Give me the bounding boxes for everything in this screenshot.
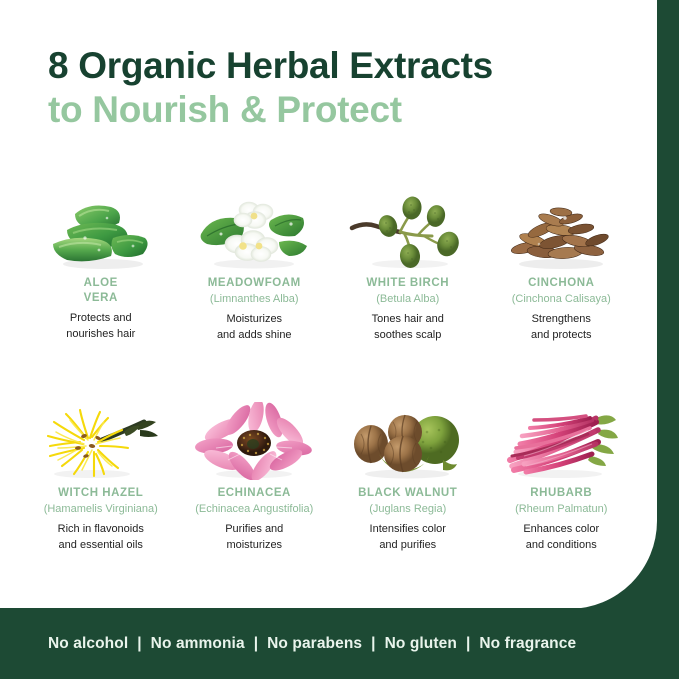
black-walnut-nuts-icon: [338, 396, 478, 480]
ingredient-latin-name: (Betula Alba): [376, 292, 439, 307]
infographic-page: 8 Organic Herbal Extracts to Nourish & P…: [0, 0, 679, 679]
desc-line1: Moisturizes: [226, 313, 282, 325]
ingredient-description: Tones hair and soothes scalp: [372, 312, 444, 344]
ingredient-name: CINCHONA: [528, 276, 594, 291]
claims-list: No alcohol | No ammonia | No parabens | …: [48, 635, 576, 653]
rhubarb-pink-stalks-icon: [491, 396, 631, 480]
desc-line2: and essential oils: [59, 539, 143, 551]
ingredient-name: BLACK WALNUT: [358, 486, 457, 501]
desc-line1: Purifies and: [225, 523, 283, 535]
desc-line2: and adds shine: [217, 329, 292, 341]
page-title-line2: to Nourish & Protect: [48, 88, 628, 132]
echinacea-pink-flower-icon: [184, 396, 324, 480]
desc-line1: Protects and: [70, 312, 132, 324]
ingredient-name-line1: ALOE: [84, 277, 118, 289]
ingredient-card-echinacea: ECHINACEA (Echinacea Angustifolia) Purif…: [178, 396, 332, 554]
ingredient-card-cinchona: CINCHONA (Cinchona Calisaya) Strengthens…: [485, 186, 639, 344]
ingredient-card-aloe-vera: ALOE VERA Protects and nourishes hair: [24, 186, 178, 344]
ingredient-name: MEADOWFOAM: [208, 276, 301, 291]
claim-separator: |: [254, 635, 258, 653]
ingredient-latin-name: (Hamamelis Virginiana): [44, 502, 158, 517]
claim-separator: |: [466, 635, 470, 653]
claim-separator: |: [137, 635, 141, 653]
ingredient-name: RHUBARB: [530, 486, 592, 501]
claim-no-parabens: No parabens: [267, 635, 362, 653]
ingredient-description: Rich in flavonoids and essential oils: [58, 522, 144, 554]
ingredient-latin-name: (Rheum Palmatun): [515, 502, 607, 517]
ingredient-latin-name: (Echinacea Angustifolia): [195, 502, 313, 517]
claim-no-gluten: No gluten: [385, 635, 457, 653]
desc-line1: Tones hair and: [372, 313, 444, 325]
desc-line2: nourishes hair: [66, 328, 135, 340]
ingredient-name: WITCH HAZEL: [58, 486, 143, 501]
claim-no-ammonia: No ammonia: [151, 635, 245, 653]
desc-line1: Intensifies color: [370, 523, 446, 535]
claims-banner: No alcohol | No ammonia | No parabens | …: [0, 608, 679, 679]
ingredient-name: ECHINACEA: [218, 486, 291, 501]
ingredient-description: Strengthens and protects: [531, 312, 592, 344]
ingredient-description: Moisturizes and adds shine: [217, 312, 292, 344]
desc-line1: Enhances color: [523, 523, 599, 535]
desc-line2: moisturizes: [226, 539, 282, 551]
ingredient-card-black-walnut: BLACK WALNUT (Juglans Regia) Intensifies…: [331, 396, 485, 554]
meadowfoam-white-flower-icon: [184, 186, 324, 270]
ingredient-latin-name: (Cinchona Calisaya): [512, 292, 611, 307]
desc-line2: soothes scalp: [374, 329, 441, 341]
ingredient-description: Enhances color and conditions: [523, 522, 599, 554]
ingredient-name: WHITE BIRCH: [366, 276, 449, 291]
ingredient-grid: ALOE VERA Protects and nourishes hair: [24, 186, 638, 554]
ingredient-latin-name: (Limnanthes Alba): [210, 292, 299, 307]
claim-no-alcohol: No alcohol: [48, 635, 128, 653]
ingredient-description: Intensifies color and purifies: [370, 522, 446, 554]
ingredient-card-meadowfoam: MEADOWFOAM (Limnanthes Alba) Moisturizes…: [178, 186, 332, 344]
desc-line2: and conditions: [526, 539, 597, 551]
desc-line2: and protects: [531, 329, 592, 341]
ingredient-description: Protects and nourishes hair: [66, 311, 135, 343]
desc-line1: Strengthens: [532, 313, 591, 325]
ingredient-card-white-birch: WHITE BIRCH (Betula Alba) Tones hair and…: [331, 186, 485, 344]
cinchona-bark-chips-icon: [491, 186, 631, 270]
claim-no-fragrance: No fragrance: [479, 635, 576, 653]
claim-separator: |: [371, 635, 375, 653]
desc-line2: and purifies: [379, 539, 436, 551]
ingredient-card-witch-hazel: WITCH HAZEL (Hamamelis Virginiana) Rich …: [24, 396, 178, 554]
ingredient-name-line2: VERA: [84, 292, 118, 304]
ingredient-description: Purifies and moisturizes: [225, 522, 283, 554]
white-birch-catkin-branch-icon: [338, 186, 478, 270]
header: 8 Organic Herbal Extracts to Nourish & P…: [48, 44, 628, 131]
desc-line1: Rich in flavonoids: [58, 523, 144, 535]
witch-hazel-yellow-flower-icon: [31, 396, 171, 480]
ingredient-name: ALOE VERA: [84, 276, 118, 306]
aloe-vera-leaves-icon: [31, 186, 171, 270]
page-title-line1: 8 Organic Herbal Extracts: [48, 44, 628, 88]
ingredient-latin-name: (Juglans Regia): [369, 502, 446, 517]
ingredient-card-rhubarb: RHUBARB (Rheum Palmatun) Enhances color …: [485, 396, 639, 554]
